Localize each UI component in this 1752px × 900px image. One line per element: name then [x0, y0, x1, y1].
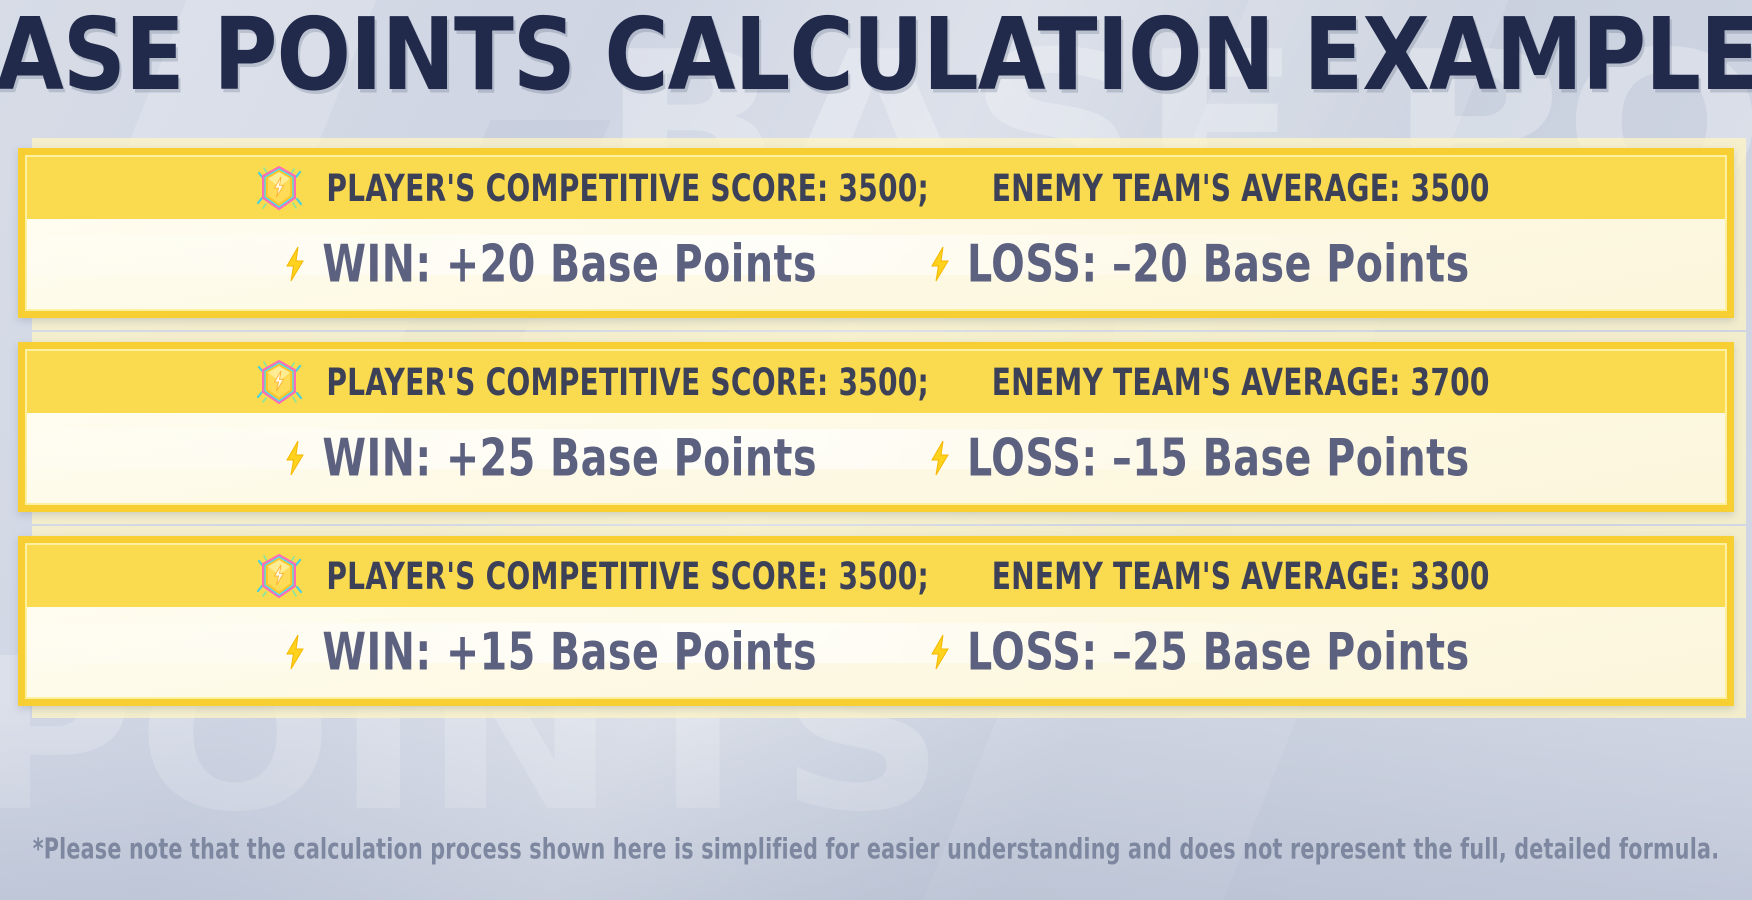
loss-text: LOSS: –15 Base Points [967, 428, 1470, 488]
background-bottom-shade [0, 700, 1752, 900]
rank-gem-icon [255, 164, 303, 212]
lightning-bolt-icon [927, 244, 953, 284]
enemy-average-label: ENEMY TEAM'S AVERAGE: 3700 [992, 360, 1490, 404]
win-text: WIN: +20 Base Points [322, 234, 817, 294]
loss-text: LOSS: –20 Base Points [967, 234, 1470, 294]
enemy-average-label: ENEMY TEAM'S AVERAGE: 3500 [992, 166, 1490, 210]
card-body: WIN: +25 Base Points LOSS: –15 Base Poin… [27, 413, 1725, 503]
card-header: PLAYER'S COMPETITIVE SCORE: 3500; ENEMY … [27, 351, 1725, 413]
lightning-bolt-icon [282, 244, 308, 284]
enemy-average-label: ENEMY TEAM'S AVERAGE: 3300 [992, 554, 1490, 598]
lightning-bolt-icon [282, 438, 308, 478]
card-header: PLAYER'S COMPETITIVE SCORE: 3500; ENEMY … [27, 545, 1725, 607]
player-score-label: PLAYER'S COMPETITIVE SCORE: 3500; [326, 554, 929, 598]
loss-outcome: LOSS: –25 Base Points [927, 627, 1470, 678]
page-title: BASE POINTS CALCULATION EXAMPLES [0, 6, 1752, 106]
rank-gem-icon [255, 358, 303, 406]
example-card: PLAYER'S COMPETITIVE SCORE: 3500; ENEMY … [18, 342, 1734, 512]
card-header-text: PLAYER'S COMPETITIVE SCORE: 3500; ENEMY … [317, 171, 1498, 205]
example-card: PLAYER'S COMPETITIVE SCORE: 3500; ENEMY … [18, 148, 1734, 318]
lightning-bolt-icon [927, 632, 953, 672]
win-outcome: WIN: +20 Base Points [282, 239, 817, 290]
lightning-bolt-icon [282, 632, 308, 672]
example-card: PLAYER'S COMPETITIVE SCORE: 3500; ENEMY … [18, 536, 1734, 706]
loss-outcome: LOSS: –20 Base Points [927, 239, 1470, 290]
win-text: WIN: +15 Base Points [322, 622, 817, 682]
card-inner: PLAYER'S COMPETITIVE SCORE: 3500; ENEMY … [25, 543, 1727, 699]
examples-list: PLAYER'S COMPETITIVE SCORE: 3500; ENEMY … [0, 148, 1752, 730]
win-outcome: WIN: +25 Base Points [282, 433, 817, 484]
page-title-bar: BASE POINTS CALCULATION EXAMPLES [0, 4, 1752, 108]
card-body: WIN: +20 Base Points LOSS: –20 Base Poin… [27, 219, 1725, 309]
player-score-label: PLAYER'S COMPETITIVE SCORE: 3500; [326, 360, 929, 404]
card-header-text: PLAYER'S COMPETITIVE SCORE: 3500; ENEMY … [317, 365, 1498, 399]
card-header: PLAYER'S COMPETITIVE SCORE: 3500; ENEMY … [27, 157, 1725, 219]
card-frame: PLAYER'S COMPETITIVE SCORE: 3500; ENEMY … [18, 536, 1734, 706]
win-outcome: WIN: +15 Base Points [282, 627, 817, 678]
lightning-bolt-icon [927, 438, 953, 478]
footnote: *Please note that the calculation proces… [0, 834, 1752, 866]
card-inner: PLAYER'S COMPETITIVE SCORE: 3500; ENEMY … [25, 155, 1727, 311]
card-header-text: PLAYER'S COMPETITIVE SCORE: 3500; ENEMY … [317, 559, 1498, 593]
card-body: WIN: +15 Base Points LOSS: –25 Base Poin… [27, 607, 1725, 697]
card-frame: PLAYER'S COMPETITIVE SCORE: 3500; ENEMY … [18, 148, 1734, 318]
page-title-text: BASE POINTS CALCULATION EXAMPLES [0, 0, 1752, 113]
win-text: WIN: +25 Base Points [322, 428, 817, 488]
loss-outcome: LOSS: –15 Base Points [927, 433, 1470, 484]
rank-gem-icon [255, 552, 303, 600]
player-score-label: PLAYER'S COMPETITIVE SCORE: 3500; [326, 166, 929, 210]
card-frame: PLAYER'S COMPETITIVE SCORE: 3500; ENEMY … [18, 342, 1734, 512]
card-inner: PLAYER'S COMPETITIVE SCORE: 3500; ENEMY … [25, 349, 1727, 505]
loss-text: LOSS: –25 Base Points [967, 622, 1470, 682]
